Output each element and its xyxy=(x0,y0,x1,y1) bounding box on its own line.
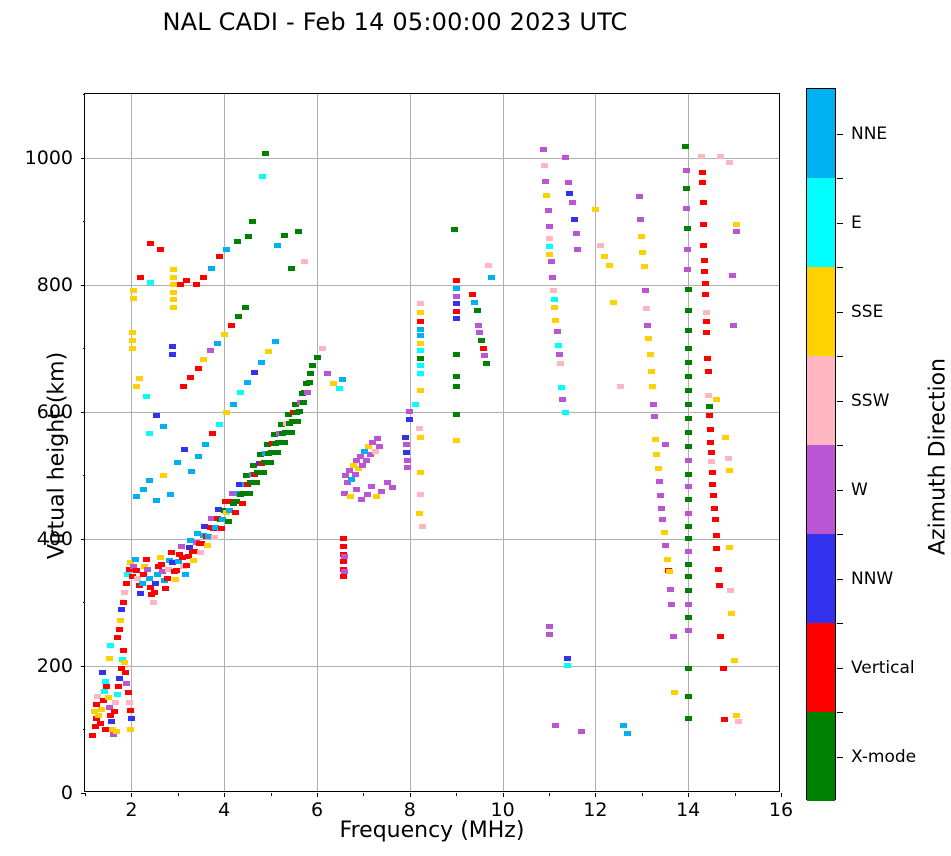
echo-point xyxy=(143,394,150,399)
echo-point xyxy=(571,217,578,222)
colorbar-tick xyxy=(837,401,843,402)
echo-point xyxy=(642,288,649,293)
echo-point xyxy=(707,440,714,445)
echo-point xyxy=(193,282,200,287)
echo-point xyxy=(709,482,716,487)
echo-point xyxy=(702,281,709,286)
echo-point xyxy=(705,393,712,398)
echo-point xyxy=(453,438,460,443)
echo-point xyxy=(341,554,348,559)
colorbar-tick xyxy=(837,223,843,224)
echo-point xyxy=(636,194,643,199)
echo-point xyxy=(128,716,135,721)
colorbar-boundary-tick xyxy=(837,623,843,624)
echo-point xyxy=(592,207,599,212)
echo-point xyxy=(160,424,167,429)
echo-point xyxy=(546,244,553,249)
echo-point xyxy=(453,309,460,314)
echo-point xyxy=(700,200,707,205)
echo-point xyxy=(164,576,171,581)
gridline-vertical xyxy=(410,94,411,791)
echo-point xyxy=(453,286,460,291)
echo-point xyxy=(417,470,424,475)
echo-point xyxy=(685,666,692,671)
echo-point xyxy=(121,590,128,595)
echo-point xyxy=(601,254,608,259)
colorbar-segment-nne[interactable] xyxy=(807,89,835,178)
echo-point xyxy=(703,330,710,335)
echo-point xyxy=(359,463,366,468)
echo-point xyxy=(251,370,258,375)
echo-point xyxy=(211,535,218,540)
echo-point xyxy=(658,506,665,511)
echo-point xyxy=(202,442,209,447)
echo-point xyxy=(417,363,424,368)
echo-point xyxy=(105,695,112,700)
echo-point xyxy=(130,296,137,301)
x-tick xyxy=(317,793,318,797)
colorbar-title: Azimuth Direction xyxy=(926,297,951,617)
echo-point xyxy=(453,278,460,283)
echo-point xyxy=(274,243,281,248)
echo-point xyxy=(340,574,347,579)
echo-point xyxy=(170,275,177,280)
echo-point xyxy=(146,576,153,581)
echo-point xyxy=(551,297,558,302)
echo-point xyxy=(126,700,133,705)
colorbar-segment-ssw[interactable] xyxy=(807,356,835,445)
colorbar-label-nnw: NNW xyxy=(851,569,893,589)
echo-point xyxy=(106,656,113,661)
echo-point xyxy=(685,444,692,449)
echo-point xyxy=(114,635,121,640)
echo-point xyxy=(281,440,288,445)
echo-point xyxy=(651,414,658,419)
echo-point xyxy=(726,468,733,473)
echo-point xyxy=(668,602,675,607)
echo-point xyxy=(340,536,347,541)
echo-point xyxy=(546,224,553,229)
gridline-horizontal xyxy=(85,158,779,159)
echo-point xyxy=(469,292,476,297)
echo-point xyxy=(699,180,706,185)
plot-area: 24681012141602004006008001000 xyxy=(84,93,780,792)
echo-point xyxy=(162,586,169,591)
y-axis-title: Virtual height (km) xyxy=(45,296,70,616)
echo-point xyxy=(643,306,650,311)
echo-point xyxy=(453,294,460,299)
x-tick-minor xyxy=(642,793,643,796)
echo-point xyxy=(685,536,692,541)
echo-point xyxy=(378,489,385,494)
echo-point xyxy=(453,384,460,389)
echo-point xyxy=(710,493,717,498)
colorbar-segment-e[interactable] xyxy=(807,178,835,267)
echo-point xyxy=(182,572,189,577)
echo-point xyxy=(125,690,132,695)
echo-point xyxy=(97,721,104,726)
y-tick xyxy=(81,412,85,413)
echo-point xyxy=(685,615,692,620)
echo-point xyxy=(239,501,246,506)
colorbar-boundary-tick xyxy=(837,356,843,357)
colorbar-segment-x-mode[interactable] xyxy=(807,712,835,801)
echo-point xyxy=(726,160,733,165)
y-tick-minor xyxy=(83,348,86,349)
echo-point xyxy=(112,700,119,705)
echo-point xyxy=(474,308,481,313)
echo-point xyxy=(129,338,136,343)
echo-point xyxy=(260,470,267,475)
echo-point xyxy=(712,517,719,522)
echo-point xyxy=(624,731,631,736)
echo-point xyxy=(412,402,419,407)
ionogram-figure: NAL CADI - Feb 14 05:00:00 2023 UTC 2468… xyxy=(0,0,951,856)
x-tick xyxy=(410,793,411,797)
colorbar-label-e: E xyxy=(851,213,862,233)
y-tick xyxy=(81,539,85,540)
echo-point xyxy=(132,557,139,562)
echo-point xyxy=(545,208,552,213)
echo-point xyxy=(340,559,347,564)
echo-point xyxy=(146,431,153,436)
echo-point xyxy=(685,430,692,435)
echo-point xyxy=(684,247,691,252)
echo-point xyxy=(552,318,559,323)
echo-point xyxy=(573,231,580,236)
echo-point xyxy=(353,487,360,492)
echo-point xyxy=(564,663,571,668)
echo-point xyxy=(552,723,559,728)
y-tick-label: 800 xyxy=(37,274,73,296)
colorbar-label-nne: NNE xyxy=(851,124,887,144)
echo-point xyxy=(653,452,660,457)
echo-point xyxy=(685,694,692,699)
echo-point xyxy=(610,300,617,305)
echo-point xyxy=(453,374,460,379)
colorbar-tick xyxy=(837,490,843,491)
echo-point xyxy=(173,568,180,573)
echo-point xyxy=(733,222,740,227)
echo-point xyxy=(137,275,144,280)
x-tick-minor xyxy=(178,793,179,796)
echo-point xyxy=(341,569,348,574)
echo-point xyxy=(645,336,652,341)
echo-point xyxy=(638,234,645,239)
echo-point xyxy=(188,469,195,474)
echo-point xyxy=(685,628,692,633)
echo-point xyxy=(617,384,624,389)
echo-point xyxy=(319,346,326,351)
y-tick xyxy=(81,285,85,286)
echo-point xyxy=(565,180,572,185)
y-tick-minor xyxy=(83,475,86,476)
echo-point xyxy=(314,355,321,360)
colorbar-boundary-tick xyxy=(837,712,843,713)
echo-point xyxy=(713,397,720,402)
gridline-horizontal xyxy=(85,666,779,667)
echo-point xyxy=(726,545,733,550)
echo-point xyxy=(701,269,708,274)
echo-point xyxy=(578,729,585,734)
echo-point xyxy=(670,634,677,639)
echo-point xyxy=(204,543,211,548)
echo-point xyxy=(406,409,413,414)
echo-point xyxy=(720,666,727,671)
echo-point xyxy=(685,308,692,313)
echo-point xyxy=(265,349,272,354)
echo-point xyxy=(295,229,302,234)
echo-point xyxy=(340,544,347,549)
echo-point xyxy=(140,487,147,492)
colorbar-segment-vertical[interactable] xyxy=(807,623,835,712)
echo-point xyxy=(713,546,720,551)
echo-point xyxy=(113,729,120,734)
echo-point xyxy=(703,310,710,315)
echo-point xyxy=(195,366,202,371)
echo-point xyxy=(550,288,557,293)
echo-point xyxy=(639,250,646,255)
echo-point xyxy=(136,376,143,381)
echo-point xyxy=(685,511,692,516)
echo-point xyxy=(699,170,706,175)
echo-point xyxy=(103,684,110,689)
echo-point xyxy=(178,544,185,549)
echo-point xyxy=(661,530,668,535)
echo-point xyxy=(373,494,380,499)
x-tick-minor xyxy=(456,793,457,796)
echo-point xyxy=(685,716,692,721)
echo-point xyxy=(152,581,159,586)
echo-point xyxy=(416,511,423,516)
echo-point xyxy=(562,410,569,415)
echo-point xyxy=(419,524,426,529)
echo-point xyxy=(417,319,424,324)
echo-point xyxy=(417,371,424,376)
echo-point xyxy=(404,465,411,470)
colorbar-boundary-tick xyxy=(837,178,843,179)
echo-point xyxy=(648,369,655,374)
echo-point xyxy=(133,494,140,499)
echo-point xyxy=(662,442,669,447)
echo-point xyxy=(685,602,692,607)
echo-point xyxy=(167,492,174,497)
echo-point xyxy=(725,456,732,461)
echo-point xyxy=(453,301,460,306)
gridline-vertical xyxy=(688,94,689,791)
echo-point xyxy=(662,543,669,548)
echo-point xyxy=(685,524,692,529)
echo-point xyxy=(288,266,295,271)
echo-point xyxy=(683,168,690,173)
echo-point xyxy=(223,247,230,252)
echo-point xyxy=(453,352,460,357)
echo-point xyxy=(606,263,613,268)
echo-point xyxy=(223,410,230,415)
echo-point xyxy=(685,484,692,489)
echo-point xyxy=(183,278,190,283)
echo-point xyxy=(685,402,692,407)
echo-point xyxy=(417,341,424,346)
echo-point xyxy=(127,708,134,713)
echo-point xyxy=(569,200,576,205)
echo-point xyxy=(709,470,716,475)
colorbar-segment-nnw[interactable] xyxy=(807,534,835,623)
echo-point xyxy=(478,338,485,343)
echo-point xyxy=(116,627,123,632)
echo-point xyxy=(620,723,627,728)
echo-point xyxy=(700,243,707,248)
echo-point xyxy=(715,567,722,572)
echo-point xyxy=(207,348,214,353)
echo-point xyxy=(716,583,723,588)
gridline-vertical xyxy=(131,94,132,791)
echo-point xyxy=(685,287,692,292)
colorbar-tick xyxy=(837,668,843,669)
gridline-horizontal xyxy=(85,412,779,413)
echo-point xyxy=(711,506,718,511)
echo-point xyxy=(294,419,301,424)
echo-point xyxy=(685,549,692,554)
echo-point xyxy=(376,444,383,449)
echo-point xyxy=(218,526,225,531)
echo-point xyxy=(120,648,127,653)
echo-point xyxy=(685,360,692,365)
echo-point xyxy=(480,346,487,351)
echo-point xyxy=(451,227,458,232)
echo-point xyxy=(258,360,265,365)
echo-point xyxy=(701,258,708,263)
x-axis-title: Frequency (MHz) xyxy=(84,818,780,843)
echo-point xyxy=(137,591,144,596)
echo-point xyxy=(208,266,215,271)
echo-point xyxy=(488,275,495,280)
echo-point xyxy=(348,477,355,482)
echo-point xyxy=(190,558,197,563)
echo-point xyxy=(727,588,734,593)
x-tick-minor xyxy=(735,793,736,796)
echo-point xyxy=(158,562,165,567)
echo-point xyxy=(120,600,127,605)
echo-point xyxy=(122,670,129,675)
echo-point xyxy=(127,727,134,732)
echo-point xyxy=(130,288,137,293)
echo-point xyxy=(195,454,202,459)
echo-point xyxy=(144,567,151,572)
echo-point xyxy=(169,352,176,357)
colorbar-segment-sse[interactable] xyxy=(807,267,835,356)
y-tick xyxy=(81,793,85,794)
echo-point xyxy=(129,346,136,351)
echo-point xyxy=(246,491,253,496)
echo-point xyxy=(417,333,424,338)
echo-point xyxy=(272,339,279,344)
echo-point xyxy=(657,493,664,498)
echo-point xyxy=(471,300,478,305)
echo-point xyxy=(160,473,167,478)
echo-point xyxy=(153,498,160,503)
echo-point xyxy=(731,658,738,663)
echo-point xyxy=(237,390,244,395)
gridline-vertical xyxy=(595,94,596,791)
echo-point xyxy=(684,267,691,272)
echo-point xyxy=(170,305,177,310)
echo-point xyxy=(172,577,179,582)
y-tick-label: 200 xyxy=(37,655,73,677)
echo-point xyxy=(664,557,671,562)
echo-point xyxy=(641,264,648,269)
echo-point xyxy=(703,319,710,324)
echo-point xyxy=(170,297,177,302)
echo-point xyxy=(116,676,123,681)
echo-point xyxy=(597,243,604,248)
echo-point xyxy=(170,282,177,287)
echo-point xyxy=(417,388,424,393)
echo-point xyxy=(485,263,492,268)
echo-point xyxy=(123,681,130,686)
x-tick xyxy=(224,793,225,797)
echo-point xyxy=(650,402,657,407)
x-tick xyxy=(131,793,132,797)
echo-point xyxy=(713,533,720,538)
echo-point xyxy=(389,485,396,490)
colorbar-tick xyxy=(837,134,843,135)
echo-point xyxy=(685,346,692,351)
echo-point xyxy=(555,343,562,348)
colorbar-boundary-tick xyxy=(837,534,843,535)
echo-point xyxy=(476,330,483,335)
echo-point xyxy=(704,356,711,361)
echo-point xyxy=(281,233,288,238)
echo-point xyxy=(244,380,251,385)
echo-point xyxy=(406,417,413,422)
echo-point xyxy=(101,689,108,694)
echo-point xyxy=(301,259,308,264)
echo-point xyxy=(117,618,124,623)
data-canvas xyxy=(85,94,779,791)
echo-point xyxy=(652,437,659,442)
colorbar-tick xyxy=(837,579,843,580)
echo-point xyxy=(187,375,194,380)
echo-point xyxy=(683,186,690,191)
echo-point xyxy=(417,310,424,315)
echo-point xyxy=(183,563,190,568)
echo-point xyxy=(306,380,313,385)
echo-point xyxy=(542,179,549,184)
echo-point xyxy=(546,252,553,257)
echo-point xyxy=(685,374,692,379)
colorbar-segment-w[interactable] xyxy=(807,445,835,534)
y-tick-minor xyxy=(83,729,86,730)
echo-point xyxy=(685,497,692,502)
echo-point xyxy=(540,147,547,152)
echo-point xyxy=(89,733,96,738)
echo-point xyxy=(483,361,490,366)
echo-point xyxy=(170,267,177,272)
echo-point xyxy=(685,328,692,333)
colorbar-tick xyxy=(837,312,843,313)
echo-point xyxy=(417,356,424,361)
echo-point xyxy=(647,352,654,357)
echo-point xyxy=(147,241,154,246)
echo-point xyxy=(253,480,260,485)
echo-point xyxy=(216,422,223,427)
echo-point xyxy=(541,163,548,168)
echo-point xyxy=(139,581,146,586)
echo-point xyxy=(559,397,566,402)
colorbar[interactable]: NNEESSESSWWNNWVerticalX-mode xyxy=(806,88,836,800)
echo-point xyxy=(364,492,371,497)
